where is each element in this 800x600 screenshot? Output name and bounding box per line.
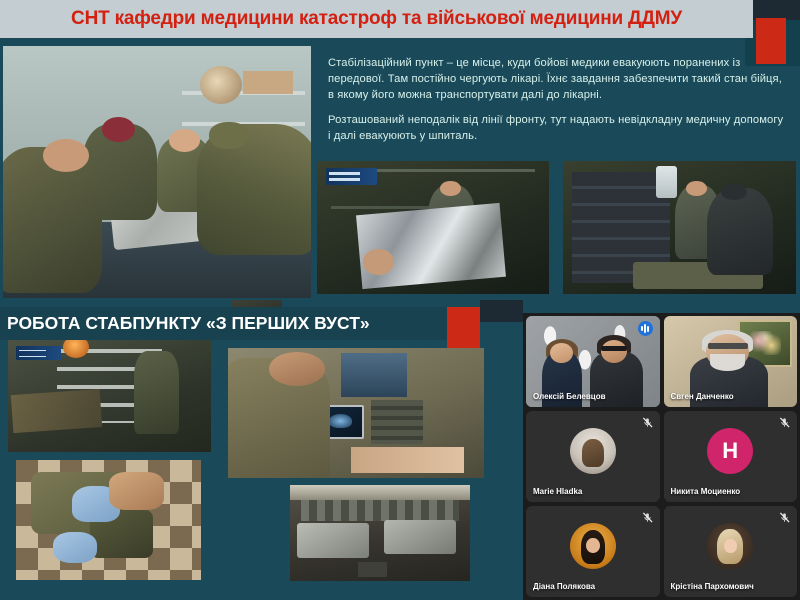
photo-detail-bare-hand xyxy=(109,472,165,510)
video-tile-participant-6[interactable]: Крістіна Пархомович xyxy=(664,506,798,597)
video-tile-grid: Олексій Белевцов Євген Данченко xyxy=(526,316,797,597)
microphone-off-icon xyxy=(779,416,790,429)
photo-detail-patient-lying xyxy=(351,447,464,473)
photo-detail-medic-head xyxy=(440,181,461,196)
photo-gloved-hands-treating-leg xyxy=(16,460,201,580)
microphone-off-icon xyxy=(642,416,653,429)
photo-detail-medic-3-head xyxy=(169,129,200,152)
avatar xyxy=(570,523,616,569)
photo-stabilization-point-foil xyxy=(317,161,549,294)
video-tile-participant-4[interactable]: Н Никита Моциенко xyxy=(664,411,798,502)
banner-dark-corner xyxy=(480,300,523,322)
photo-detail-doctor-head xyxy=(269,352,325,386)
photo-detail-patient xyxy=(11,388,103,432)
section-banner-label: РОБОТА СТАБПУНКТУ «З ПЕРШИХ ВУСТ» xyxy=(0,313,370,334)
participant-name-label: Никита Моциенко xyxy=(671,487,741,496)
participant-glasses xyxy=(708,343,748,348)
photo-detail-ceiling xyxy=(290,485,470,500)
video-tile-participant-5[interactable]: Діана Полякова xyxy=(526,506,660,597)
photo-detail-window xyxy=(341,353,408,397)
avatar xyxy=(570,428,616,474)
photo-detail-glove-lower xyxy=(53,532,97,563)
participant-beard xyxy=(710,354,745,370)
participant-name-label: Діана Полякова xyxy=(533,582,595,591)
banner-accent-bar xyxy=(447,307,480,351)
photo-detail-standing-medic xyxy=(134,351,179,434)
participant-name-label: Marie Hladka xyxy=(533,487,582,496)
presentation-slide: СНТ кафедри медицини катастроф та військ… xyxy=(0,0,800,600)
photo-stabpoint-interior xyxy=(8,340,211,452)
audio-level-icon xyxy=(638,321,653,336)
video-tile-participant-3[interactable]: Marie Hladka xyxy=(526,411,660,502)
avatar: Н xyxy=(707,428,753,474)
description-text-panel: Стабілізаційний пункт – це місце, куди б… xyxy=(318,46,796,152)
photo-detail-bed-left xyxy=(297,523,369,558)
photo-detail-medic-4-head xyxy=(209,122,249,150)
page-title: СНТ кафедри медицини катастроф та військ… xyxy=(71,8,682,30)
photo-hospital-ward-beds xyxy=(290,485,470,581)
photo-detail-medic-left-head xyxy=(686,181,707,196)
participant-face-left xyxy=(550,343,573,363)
photo-detail-bed-right xyxy=(384,520,456,555)
description-paragraph-2: Розташований неподалік від лінії фронту,… xyxy=(328,113,788,145)
photo-medics-treating-patient xyxy=(3,46,311,298)
participant-name-label: Крістіна Пархомович xyxy=(671,582,754,591)
photo-detail-box xyxy=(243,71,292,94)
title-dark-corner xyxy=(753,0,800,20)
participant-name-label: Олексій Белевцов xyxy=(533,392,606,401)
photo-detail-lamp xyxy=(63,340,89,358)
photo-detail-medic-2-head xyxy=(102,117,136,142)
microphone-off-icon xyxy=(779,511,790,524)
photo-detail-foil-blanket xyxy=(356,203,506,290)
photo-detail-box xyxy=(358,562,387,577)
photo-detail-lamp xyxy=(200,66,242,104)
avatar xyxy=(707,523,753,569)
slide-title-bar: СНТ кафедри медицини катастроф та військ… xyxy=(0,0,753,38)
video-tile-participant-2[interactable]: Євген Данченко xyxy=(664,316,798,407)
video-tile-participant-1[interactable]: Олексій Белевцов xyxy=(526,316,660,407)
participant-name-label: Євген Данченко xyxy=(671,392,734,401)
photo-detail-patient-head xyxy=(363,249,393,276)
section-banner: РОБОТА СТАБПУНКТУ «З ПЕРШИХ ВУСТ» xyxy=(0,307,447,340)
photo-detail-medic-right xyxy=(707,188,772,276)
photo-detail-news-watermark xyxy=(326,168,377,185)
photo-medics-around-patient xyxy=(563,161,796,294)
photo-detail-iv-bag xyxy=(656,166,677,198)
photo-detail-racks xyxy=(301,500,459,521)
video-conference-panel[interactable]: Олексій Белевцов Євген Данченко xyxy=(523,313,800,600)
photo-doctor-ultrasound xyxy=(228,348,484,478)
microphone-off-icon xyxy=(642,511,653,524)
photo-detail-equipment xyxy=(371,400,422,444)
description-paragraph-1: Стабілізаційний пункт – це місце, куди б… xyxy=(328,56,788,104)
avatar-initial: Н xyxy=(707,428,753,474)
photo-detail-medic-1-head xyxy=(43,139,89,172)
photo-detail-medic-right-head xyxy=(721,184,747,200)
photo-detail-news-watermark xyxy=(16,346,61,361)
participant-glasses xyxy=(601,346,628,351)
